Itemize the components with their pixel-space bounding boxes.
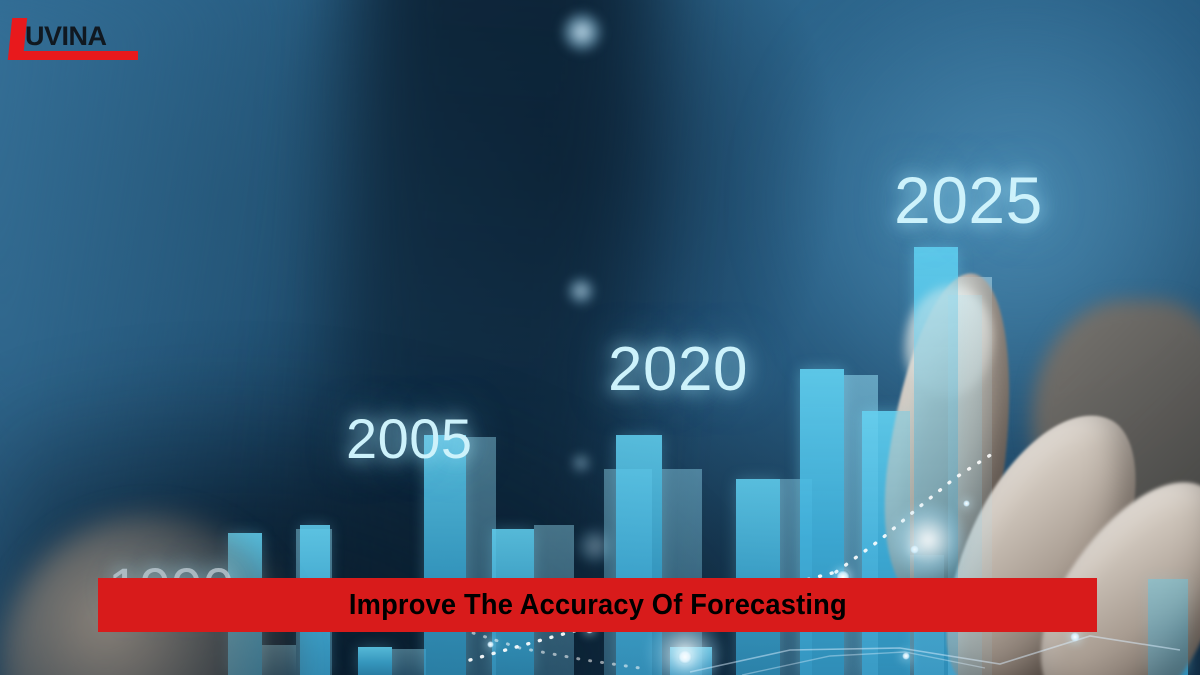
logo-wordmark: UVINA	[25, 20, 107, 52]
year-label-2020: 2020	[608, 334, 748, 405]
chart-bar	[1148, 579, 1188, 675]
logo-l-horizontal	[14, 51, 138, 60]
screenshot-canvas: 1990 2005 2020 2025 Improve The Accuracy…	[0, 0, 1200, 675]
luvina-logo[interactable]: UVINA	[10, 18, 138, 60]
title-banner: Improve The Accuracy Of Forecasting	[98, 578, 1097, 632]
year-label-2025: 2025	[894, 162, 1043, 238]
year-label-2005: 2005	[346, 406, 473, 471]
touch-glow	[888, 500, 968, 580]
banner-title-text: Improve The Accuracy Of Forecasting	[349, 589, 847, 622]
